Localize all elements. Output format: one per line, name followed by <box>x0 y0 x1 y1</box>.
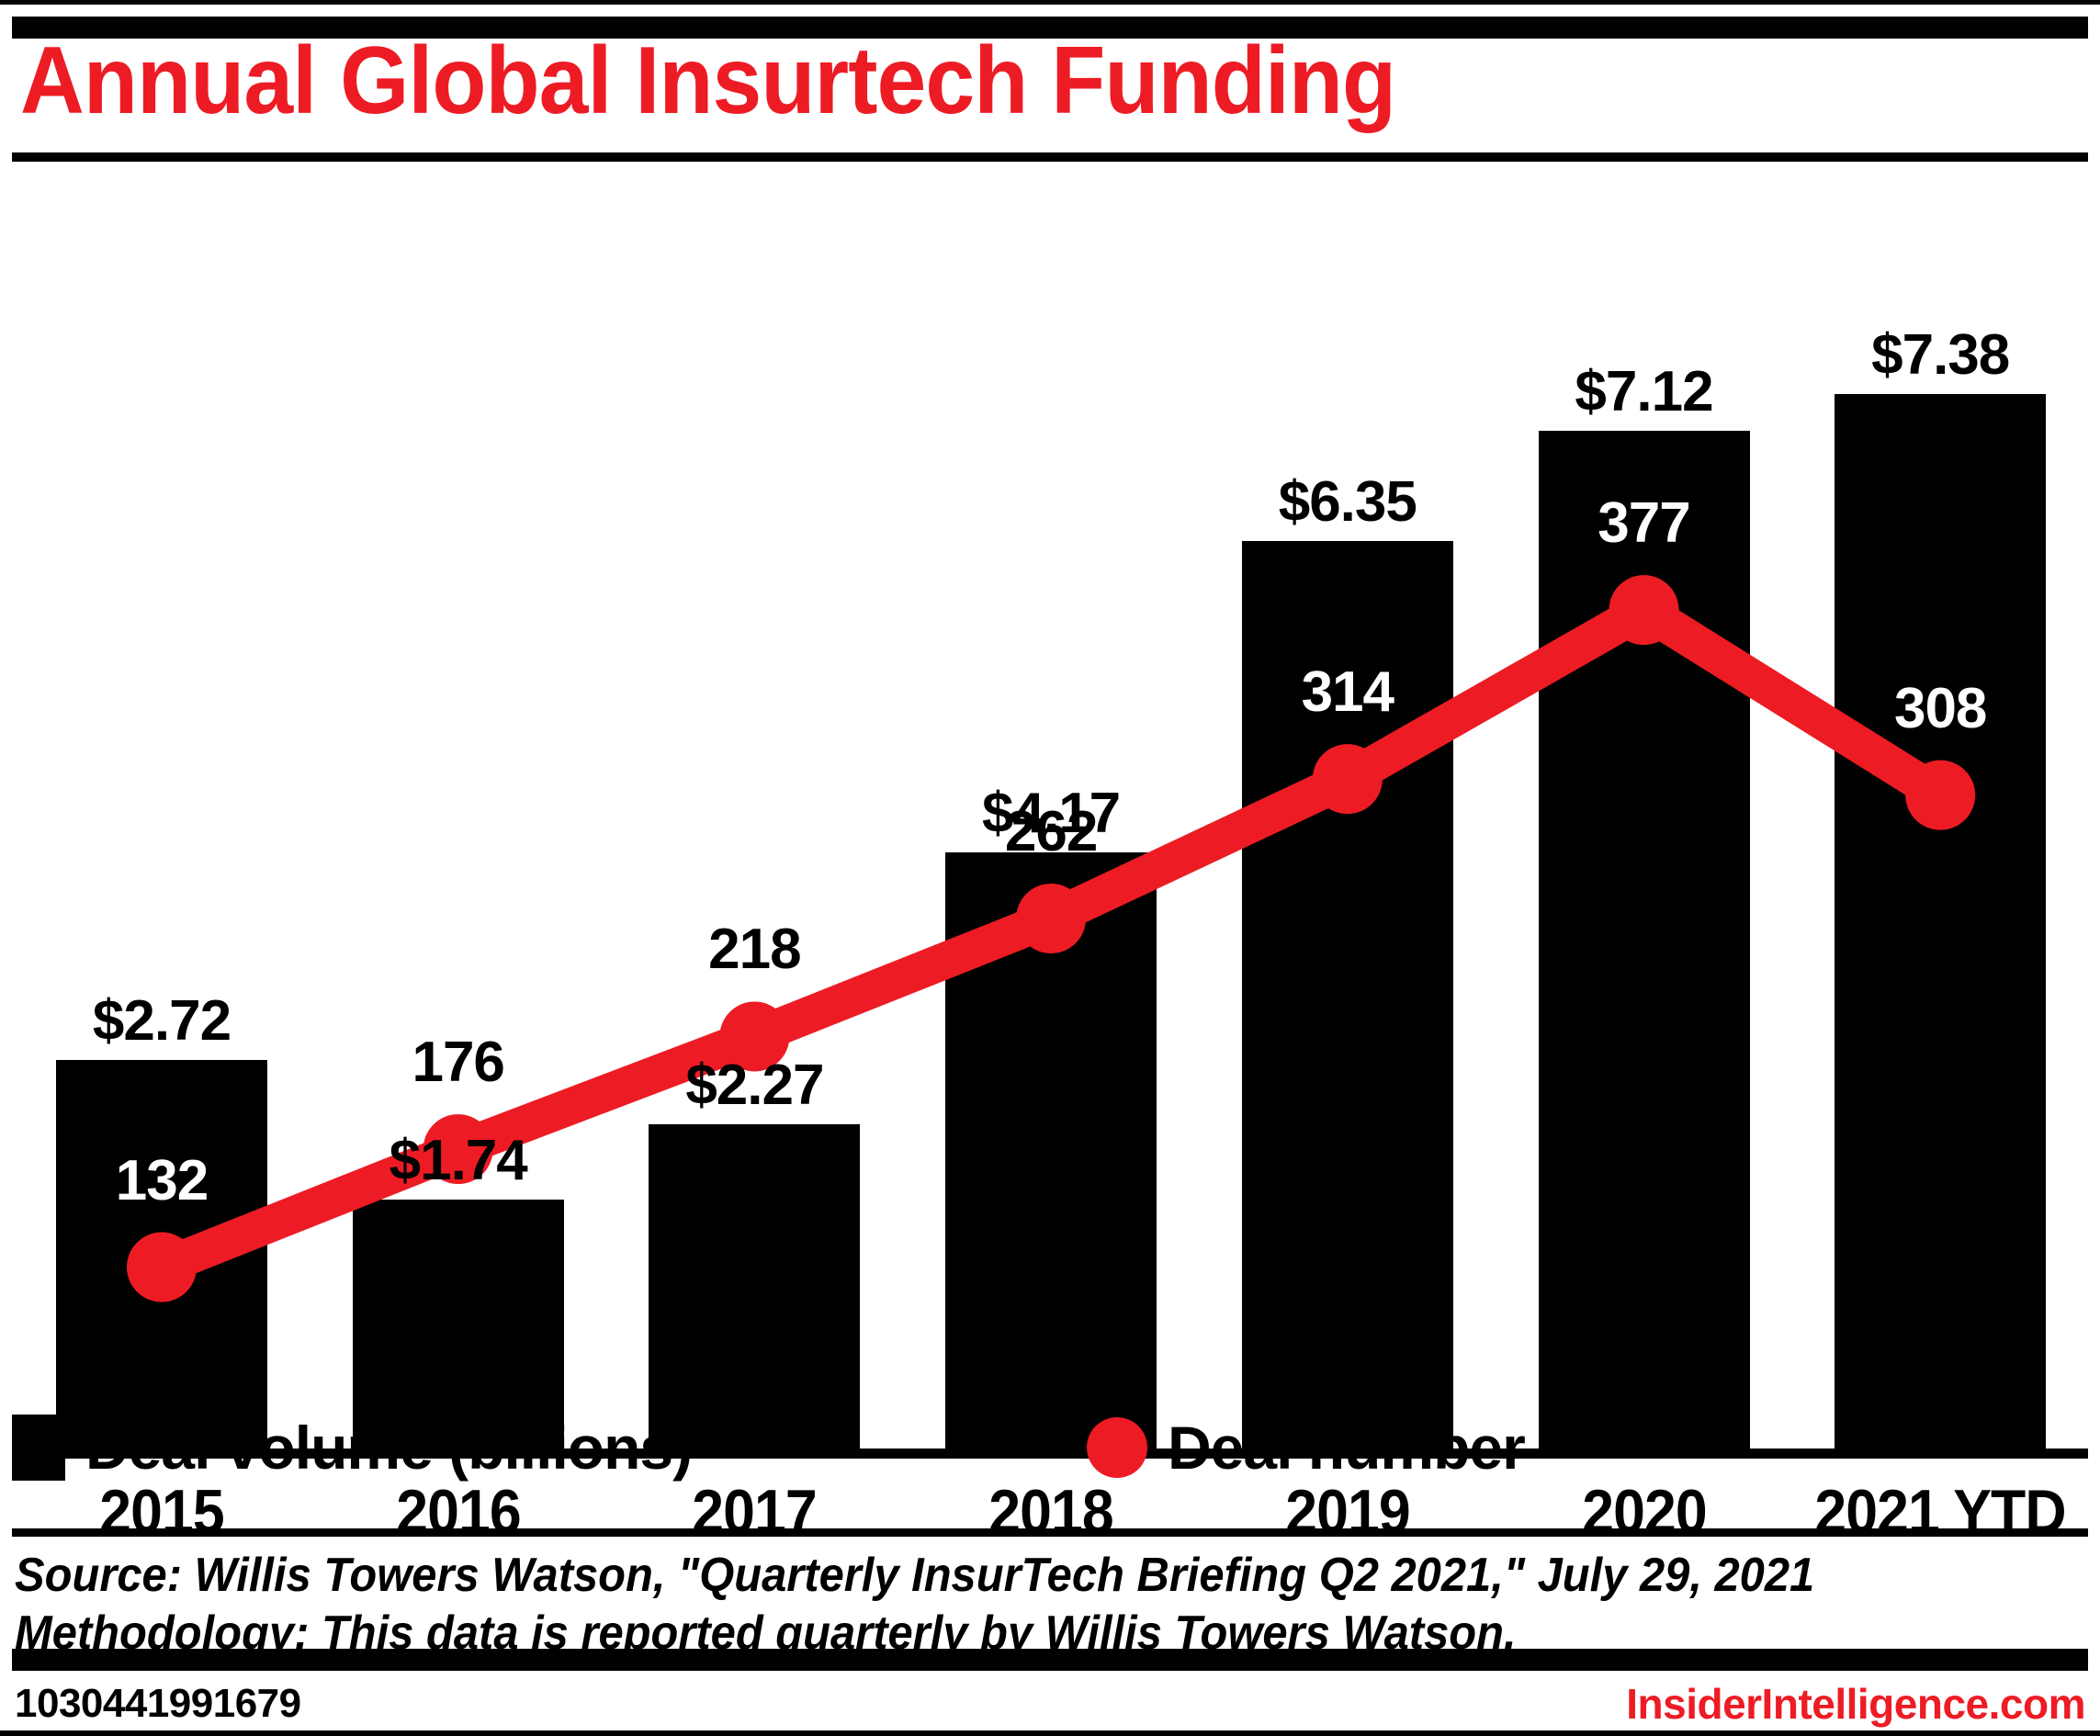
bottom-edge-divider <box>0 1730 2100 1736</box>
bar-value-label-2019: $6.35 <box>1279 469 1417 535</box>
footer-middle-divider <box>12 1649 2088 1671</box>
bar-2017 <box>649 1124 860 1449</box>
bar-value-label-2016: $1.74 <box>390 1128 527 1193</box>
chart-legend: Deal volume (billions) Deal number <box>12 1403 2088 1491</box>
red-circle-icon <box>1087 1417 1147 1478</box>
bar-2015 <box>56 1060 267 1449</box>
source-block: Source: Willis Towers Watson, "Quarterly… <box>15 1547 2036 1663</box>
page-title: Annual Global Insurtech Funding <box>20 33 1395 129</box>
footer-top-divider <box>12 1528 2088 1537</box>
legend-item-deal-volume[interactable]: Deal volume (billions) <box>12 1403 692 1491</box>
deal-number-label-2015: 132 <box>116 1148 208 1213</box>
infographic-canvas: Annual Global Insurtech Funding $2.72132… <box>0 0 2100 1736</box>
bar-value-label-2020: $7.12 <box>1575 359 1712 424</box>
bar-2020 <box>1539 431 1750 1449</box>
legend-item-deal-number[interactable]: Deal number <box>1087 1403 1525 1491</box>
bar-value-label-2015: $2.72 <box>93 988 231 1054</box>
bar-value-label-2017: $2.27 <box>685 1053 823 1118</box>
deal-number-label-2017: 218 <box>708 917 800 982</box>
legend-label-deal-volume: Deal volume (billions) <box>85 1413 692 1482</box>
deal-number-label-2018: 262 <box>1005 799 1097 864</box>
bar-2018 <box>945 852 1157 1449</box>
deal-number-label-2021-ytd: 308 <box>1894 676 1986 741</box>
deal-number-label-2016: 176 <box>412 1030 503 1095</box>
title-bottom-divider <box>12 152 2088 162</box>
chart-plot-area: $2.72132$1.74176$2.27218$4.17262$6.35314… <box>0 162 2100 1305</box>
asset-id-label: 1030441991679 <box>15 1681 301 1727</box>
legend-label-deal-number: Deal number <box>1168 1413 1525 1482</box>
bar-value-label-2021-ytd: $7.38 <box>1871 322 2009 388</box>
source-line: Source: Willis Towers Watson, "Quarterly… <box>15 1547 1914 1605</box>
top-edge-divider <box>0 0 2100 5</box>
bar-2021-ytd <box>1835 394 2046 1449</box>
deal-number-label-2020: 377 <box>1598 490 1689 556</box>
black-square-icon <box>12 1415 65 1481</box>
brand-link[interactable]: InsiderIntelligence.com <box>1626 1679 2085 1729</box>
deal-number-label-2019: 314 <box>1302 659 1394 725</box>
